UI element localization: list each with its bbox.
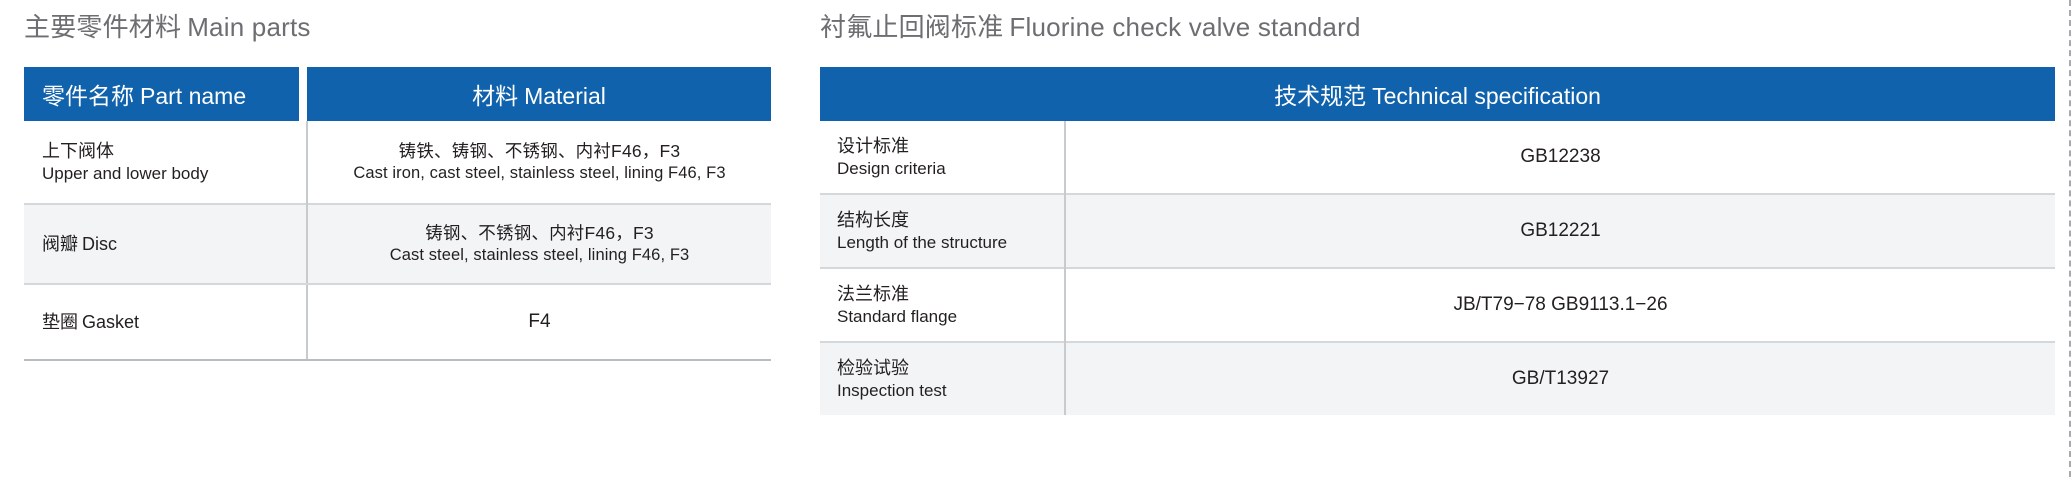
cell-spec-value: JB/T79−78 GB9113.1−26 — [1065, 268, 2055, 342]
column-header-spec-en: Technical specification — [1366, 83, 1601, 109]
spec-item-cn: 设计标准 — [837, 135, 1064, 158]
cell-part-name: 阀瓣Disc — [24, 204, 307, 284]
table-row: 阀瓣Disc 铸钢、不锈钢、内衬F46，F3 Cast steel, stain… — [24, 204, 771, 284]
main-parts-title: 主要零件材料Main parts — [24, 12, 813, 43]
spec-item-en: Inspection test — [837, 380, 1064, 401]
column-header-part-name-cn: 零件名称 — [42, 83, 134, 109]
cell-spec-item: 设计标准 Design criteria — [820, 121, 1065, 194]
standards-table: 技术规范Technical specification 设计标准 Design … — [820, 67, 2055, 415]
cell-spec-item: 检验试验 Inspection test — [820, 342, 1065, 415]
material-en: Cast steel, stainless steel, lining F46,… — [320, 245, 759, 266]
header-gap — [299, 67, 307, 121]
standards-title-cn: 衬氟止回阀标准 — [820, 12, 1003, 42]
material-cn: 铸铁、铸钢、不锈钢、内衬F46，F3 — [320, 140, 759, 162]
table-row: 上下阀体 Upper and lower body 铸铁、铸钢、不锈钢、内衬F4… — [24, 121, 771, 204]
part-name-cn: 垫圈 — [42, 312, 78, 332]
spec-item-cn: 检验试验 — [837, 357, 1064, 380]
spec-sheet-page: 主要零件材料Main parts 零件名称Part name 材料Materia… — [0, 0, 2072, 477]
table-row: 检验试验 Inspection test GB/T13927 — [820, 342, 2055, 415]
spec-item-en: Design criteria — [837, 158, 1064, 179]
cell-spec-item: 结构长度 Length of the structure — [820, 194, 1065, 268]
material-cn: 铸钢、不锈钢、内衬F46，F3 — [320, 222, 759, 244]
column-header-technical-specification: 技术规范Technical specification — [820, 67, 2055, 121]
column-header-part-name: 零件名称Part name — [24, 67, 299, 121]
column-header-material-cn: 材料 — [472, 83, 518, 109]
main-parts-panel: 主要零件材料Main parts 零件名称Part name 材料Materia… — [0, 0, 813, 477]
standards-title: 衬氟止回阀标准Fluorine check valve standard — [820, 12, 2072, 43]
spec-item-cn: 法兰标准 — [837, 283, 1064, 306]
cell-part-name: 垫圈Gasket — [24, 284, 307, 360]
page-edge-divider — [2069, 0, 2071, 477]
standards-panel: 衬氟止回阀标准Fluorine check valve standard 技术规… — [813, 0, 2072, 477]
main-parts-title-en: Main parts — [181, 12, 310, 42]
part-name-en: Disc — [78, 234, 117, 254]
column-header-part-name-en: Part name — [134, 83, 246, 109]
spec-item-en: Standard flange — [837, 306, 1064, 327]
cell-spec-value: GB12238 — [1065, 121, 2055, 194]
part-name-en: Gasket — [78, 312, 139, 332]
column-header-material: 材料Material — [307, 67, 771, 121]
cell-material: F4 — [307, 284, 771, 360]
part-name-en: Upper and lower body — [42, 163, 306, 185]
cell-part-name: 上下阀体 Upper and lower body — [24, 121, 307, 204]
main-parts-title-cn: 主要零件材料 — [24, 12, 181, 42]
cell-material: 铸钢、不锈钢、内衬F46，F3 Cast steel, stainless st… — [307, 204, 771, 284]
table-header-row: 技术规范Technical specification — [820, 67, 2055, 121]
table-row: 垫圈Gasket F4 — [24, 284, 771, 360]
main-parts-table: 零件名称Part name 材料Material 上下阀体 Upper and … — [24, 67, 771, 361]
table-header-row: 零件名称Part name 材料Material — [24, 67, 771, 121]
cell-spec-value: GB/T13927 — [1065, 342, 2055, 415]
cell-spec-value: GB12221 — [1065, 194, 2055, 268]
cell-spec-item: 法兰标准 Standard flange — [820, 268, 1065, 342]
table-row: 设计标准 Design criteria GB12238 — [820, 121, 2055, 194]
column-header-material-en: Material — [518, 83, 606, 109]
part-name-cn: 上下阀体 — [42, 140, 306, 163]
part-name-cn: 阀瓣 — [42, 234, 78, 254]
table-row: 结构长度 Length of the structure GB12221 — [820, 194, 2055, 268]
column-header-spec-cn: 技术规范 — [1274, 83, 1366, 109]
cell-material: 铸铁、铸钢、不锈钢、内衬F46，F3 Cast iron, cast steel… — [307, 121, 771, 204]
material-en: Cast iron, cast steel, stainless steel, … — [320, 163, 759, 184]
table-row: 法兰标准 Standard flange JB/T79−78 GB9113.1−… — [820, 268, 2055, 342]
material-value: F4 — [528, 311, 550, 332]
standards-title-en: Fluorine check valve standard — [1003, 12, 1360, 42]
spec-item-en: Length of the structure — [837, 232, 1064, 253]
spec-item-cn: 结构长度 — [837, 209, 1064, 232]
